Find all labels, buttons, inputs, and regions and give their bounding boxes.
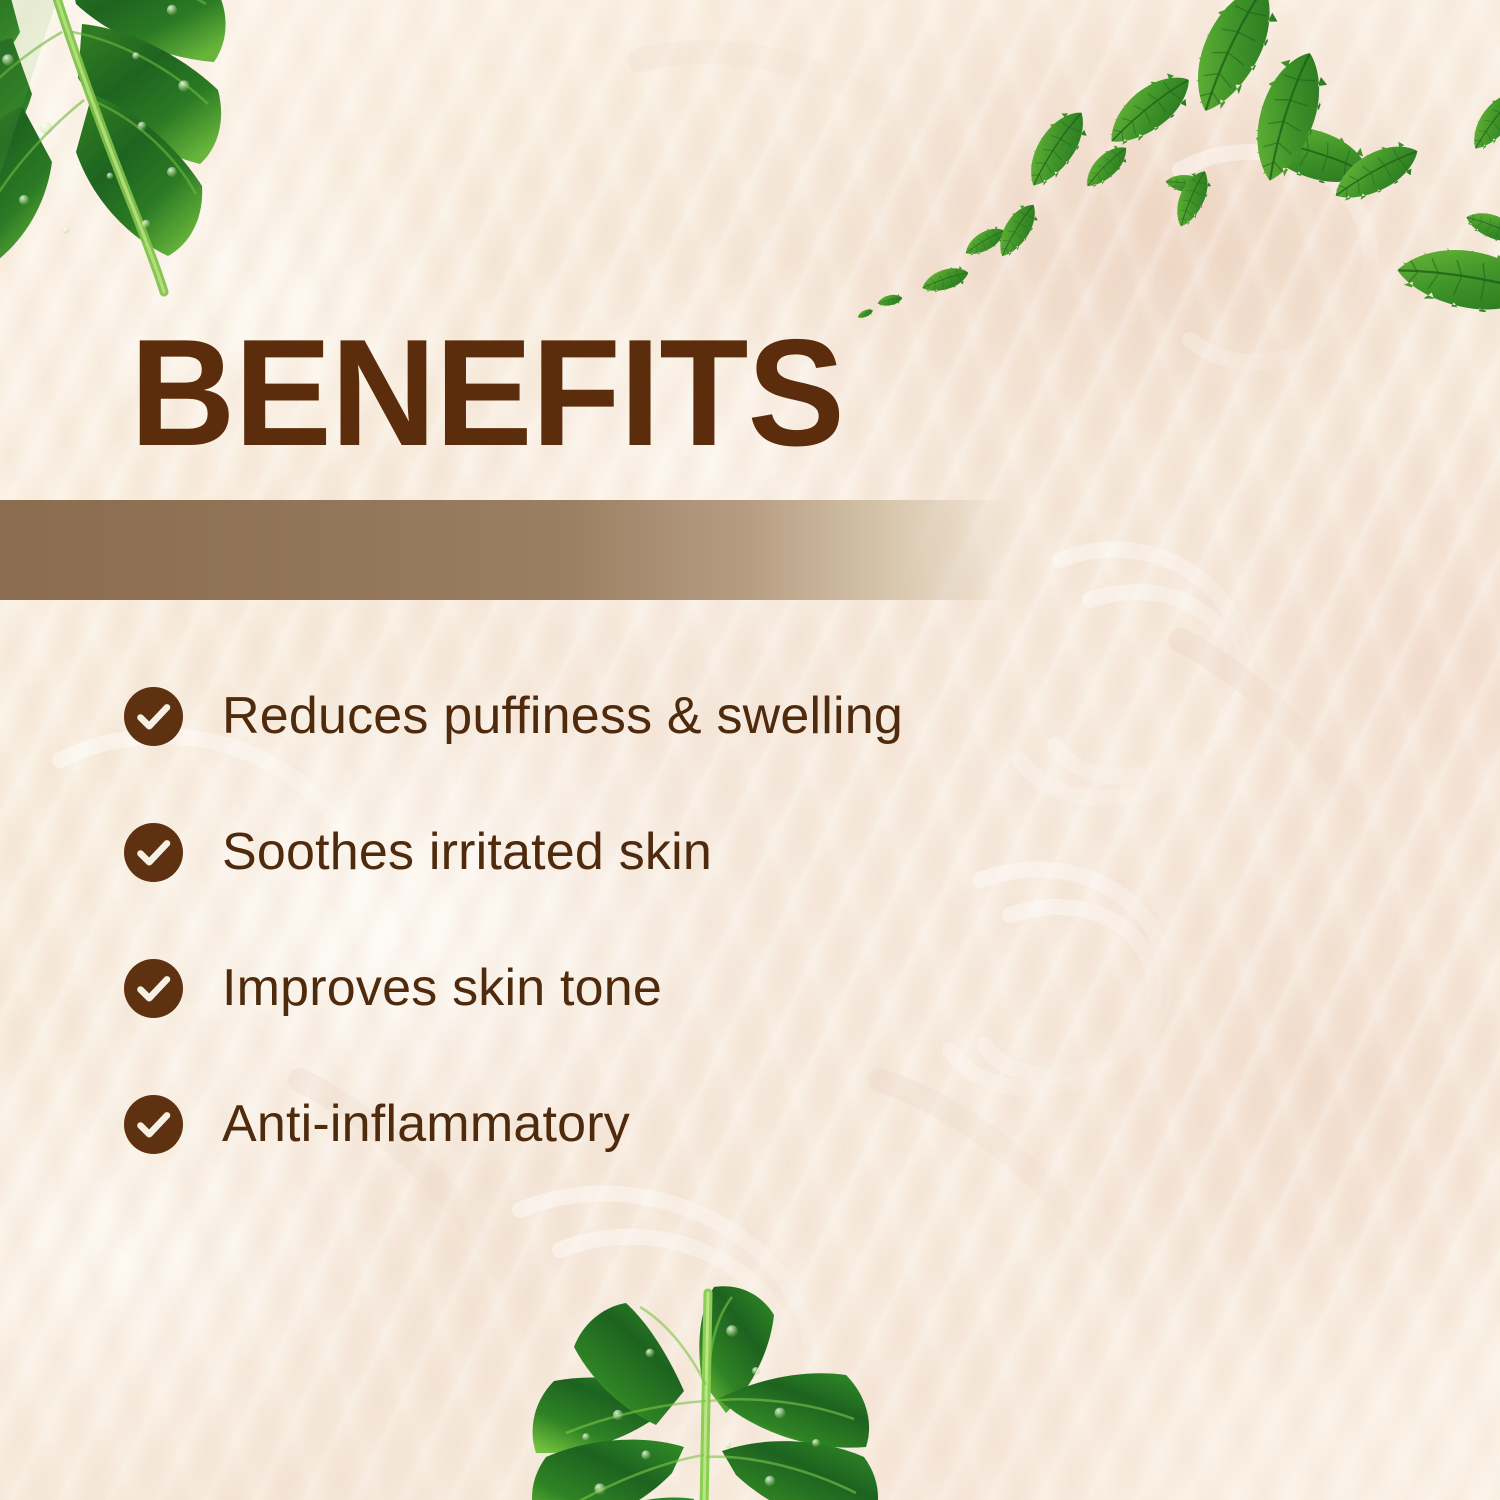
monstera-leaf-icon [0, 0, 316, 310]
check-circle-icon [124, 823, 183, 882]
list-item-label: Reduces puffiness & swelling [222, 686, 903, 746]
list-item-label: Soothes irritated skin [222, 822, 712, 882]
benefits-poster: BENEFITS Reduces puffiness & swelling So… [0, 0, 1500, 1500]
monstera-leaf-icon [470, 1285, 940, 1500]
benefits-list: Reduces puffiness & swelling Soothes irr… [124, 682, 1184, 1158]
list-item: Anti-inflammatory [124, 1090, 1184, 1158]
section-divider-fill [0, 500, 1010, 600]
page-title: BENEFITS [130, 318, 844, 468]
section-divider-bar [0, 500, 1010, 600]
list-item-label: Improves skin tone [222, 958, 662, 1018]
list-item: Improves skin tone [124, 954, 1184, 1022]
check-circle-icon [124, 687, 183, 746]
list-item: Reduces puffiness & swelling [124, 682, 1184, 750]
check-circle-icon [124, 1095, 183, 1154]
check-circle-icon [124, 959, 183, 1018]
list-item-label: Anti-inflammatory [222, 1094, 630, 1154]
list-item: Soothes irritated skin [124, 818, 1184, 886]
